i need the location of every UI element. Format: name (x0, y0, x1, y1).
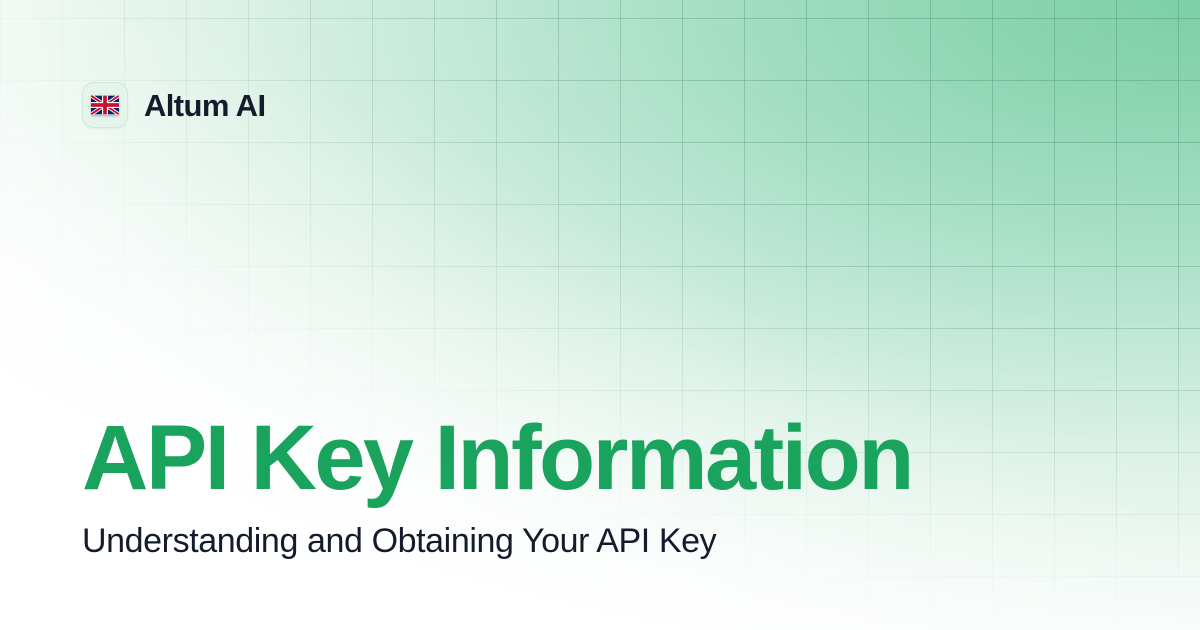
page-title: API Key Information (82, 412, 1122, 506)
brand-logo: Altum AI (82, 82, 266, 128)
og-card: Altum AI API Key Information Understandi… (0, 0, 1200, 630)
hero-text-block: API Key Information Understanding and Ob… (82, 412, 1122, 562)
brand-name: Altum AI (144, 90, 266, 121)
page-subtitle: Understanding and Obtaining Your API Key (82, 520, 1122, 563)
uk-flag-icon (82, 82, 128, 128)
